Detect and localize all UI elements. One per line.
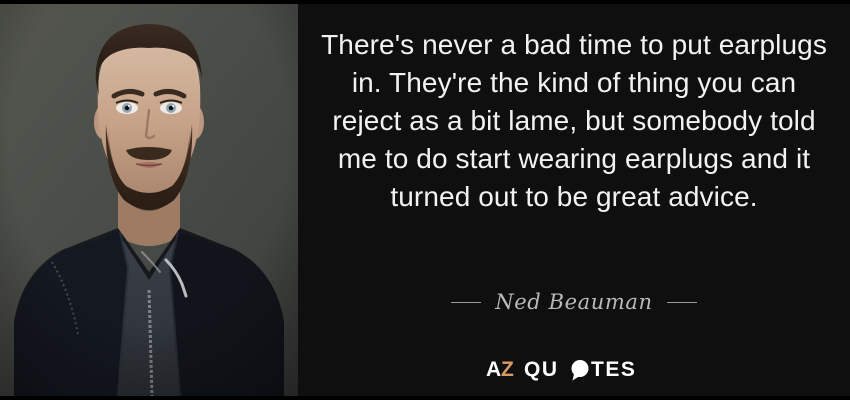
top-border-bar [0, 0, 850, 4]
quote-card: There's never a bad time to put earplugs… [0, 0, 850, 400]
author-portrait-photo [0, 4, 298, 396]
logo-word-qu: QU [524, 358, 559, 381]
quote-text-panel: There's never a bad time to put earplugs… [298, 4, 850, 396]
logo-letter-a: A [486, 358, 501, 381]
author-name: Ned Beauman [495, 290, 652, 314]
bottom-border-bar [0, 396, 850, 400]
quote-text: There's never a bad time to put earplugs… [316, 26, 832, 216]
attribution: Ned Beauman [298, 290, 850, 314]
logo-word-tes: TES [591, 358, 636, 381]
attribution-dash-left [451, 302, 481, 303]
attribution-dash-right [667, 302, 697, 303]
azquotes-logo-mark: A Z QU TES [484, 356, 664, 382]
logo-letter-z: Z [501, 358, 514, 381]
azquotes-logo[interactable]: A Z QU TES [298, 356, 850, 382]
portrait-illustration [0, 4, 298, 396]
